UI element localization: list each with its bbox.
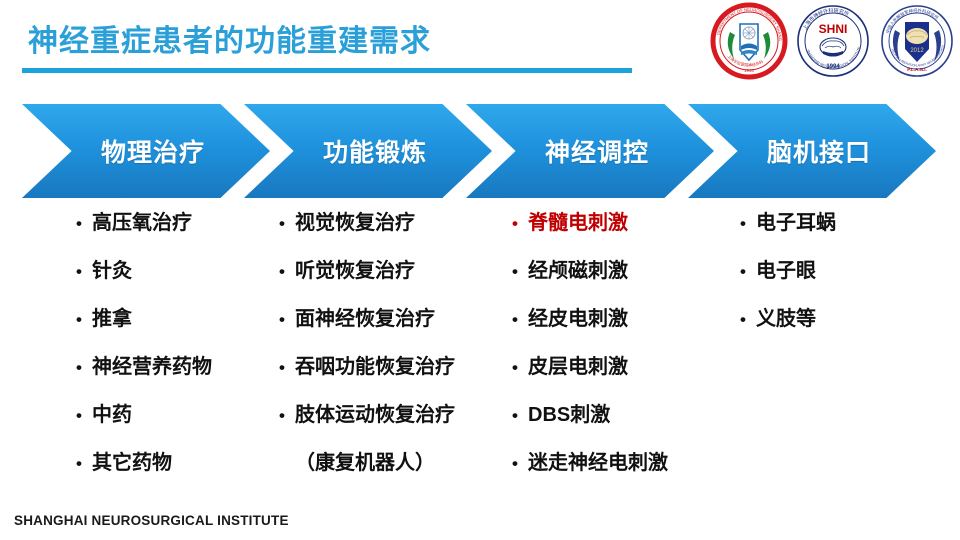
list-item: • 推拿 <box>76 302 212 350</box>
list-item: • 经皮电刺激 <box>512 302 668 350</box>
bullet-icon: • <box>512 455 528 472</box>
bullet-icon: • <box>512 407 528 424</box>
list-item: • 义肢等 <box>740 302 836 350</box>
list-item-label: 吞咽功能恢复治疗 <box>295 350 455 379</box>
list-item-label: 针灸 <box>92 254 132 283</box>
list-item: • （康复机器人） <box>279 446 455 494</box>
list-item-label: 神经营养药物 <box>92 350 212 379</box>
bullet-icon: • <box>740 311 756 328</box>
list-item-label: 皮层电刺激 <box>528 350 628 379</box>
chevron-step-4-label: 脑机接口 <box>767 133 871 169</box>
footer-institute-name: SHANGHAI NEUROSURGICAL INSTITUTE <box>14 513 289 528</box>
logo-group: 1946 DEPARTMENT OF NEUROSURGERY SHANGHAI… <box>710 2 956 80</box>
list-item: • 电子耳蜗 <box>740 206 836 254</box>
list-item: • 中药 <box>76 398 212 446</box>
bullet-icon: • <box>740 263 756 280</box>
bullet-icon: • <box>512 311 528 328</box>
list-item-label: 经皮电刺激 <box>528 302 628 331</box>
list-item-label: 脊髓电刺激 <box>528 206 628 235</box>
list-item: • 迷走神经电刺激 <box>512 446 668 494</box>
list-item-label: 其它药物 <box>92 446 172 475</box>
list-item-label: 义肢等 <box>756 302 816 331</box>
list-item-label: DBS刺激 <box>528 398 610 427</box>
list-item: • 脊髓电刺激 <box>512 206 668 254</box>
physical-therapy-list: • 高压氧治疗 • 针灸 • 推拿 • 神经营养药物 • 中药 • 其它药物 <box>76 206 212 494</box>
bullet-icon: • <box>512 359 528 376</box>
list-item-label: 推拿 <box>92 302 132 331</box>
list-item: • 肢体运动恢复治疗 <box>279 398 455 446</box>
svg-text:SHNI: SHNI <box>819 22 848 36</box>
list-item: • DBS刺激 <box>512 398 668 446</box>
chevron-step-1[interactable]: 物理治疗 <box>22 104 270 198</box>
list-item-label: 面神经恢复治疗 <box>295 302 435 331</box>
list-item: • 吞咽功能恢复治疗 <box>279 350 455 398</box>
list-item-label: 迷走神经电刺激 <box>528 446 668 475</box>
bullet-icon: • <box>512 215 528 232</box>
list-item: • 高压氧治疗 <box>76 206 212 254</box>
bullet-icon: • <box>279 215 295 232</box>
functional-training-list: • 视觉恢复治疗 • 听觉恢复治疗 • 面神经恢复治疗 • 吞咽功能恢复治疗 •… <box>279 206 455 494</box>
bullet-icon: • <box>279 311 295 328</box>
bullet-icon: • <box>279 359 295 376</box>
list-item: • 面神经恢复治疗 <box>279 302 455 350</box>
bullet-icon: • <box>76 263 92 280</box>
chevron-step-1-label: 物理治疗 <box>101 133 205 169</box>
list-item-label: （康复机器人） <box>295 446 435 475</box>
chevron-step-3[interactable]: 神经调控 <box>466 104 714 198</box>
bullet-icon: • <box>76 359 92 376</box>
list-item: • 听觉恢复治疗 <box>279 254 455 302</box>
list-item-label: 电子耳蜗 <box>756 206 836 235</box>
chevron-step-2[interactable]: 功能锻炼 <box>244 104 492 198</box>
content-columns: • 高压氧治疗 • 针灸 • 推拿 • 神经营养药物 • 中药 • 其它药物 <box>0 206 960 506</box>
bullet-icon: • <box>512 263 528 280</box>
list-item-label: 肢体运动恢复治疗 <box>295 398 455 427</box>
list-item: • 电子眼 <box>740 254 836 302</box>
list-item: • 皮层电刺激 <box>512 350 668 398</box>
bullet-icon: • <box>76 407 92 424</box>
bullet-icon: • <box>76 455 92 472</box>
svg-text:2012: 2012 <box>910 48 924 54</box>
shanghai-changzheng-hospital-neurosurgery-logo: 1946 DEPARTMENT OF NEUROSURGERY SHANGHAI… <box>710 2 788 80</box>
list-item: • 针灸 <box>76 254 212 302</box>
chevron-step-3-label: 神经调控 <box>545 133 649 169</box>
bullet-icon: • <box>279 407 295 424</box>
list-item: • 其它药物 <box>76 446 212 494</box>
list-item-label: 经颅磁刺激 <box>528 254 628 283</box>
chevron-step-4[interactable]: 脑机接口 <box>688 104 936 198</box>
shanghai-neurosurgical-institute-logo: SHNI 1994 上海市神经外科研究所 SHANGHAI NEUROSURGI… <box>794 2 872 80</box>
bullet-icon: • <box>740 215 756 232</box>
page-title: 神经重症患者的功能重建需求 <box>28 16 431 60</box>
svg-text:P.L.A.N.I.: P.L.A.N.I. <box>907 67 927 72</box>
list-item-label: 高压氧治疗 <box>92 206 192 235</box>
process-chevron-band: 物理治疗 功能锻炼 神经调控 脑机接口 <box>0 104 960 202</box>
slide-header: 神经重症患者的功能重建需求 1946 DEP <box>0 0 960 92</box>
svg-text:1946: 1946 <box>744 68 754 73</box>
list-item-label: 电子眼 <box>756 254 816 283</box>
bullet-icon: • <box>76 215 92 232</box>
chevron-step-2-label: 功能锻炼 <box>323 133 427 169</box>
brain-computer-interface-list: • 电子耳蜗 • 电子眼 • 义肢等 <box>740 206 836 350</box>
neuromodulation-list: • 脊髓电刺激 • 经颅磁刺激 • 经皮电刺激 • 皮层电刺激 • DBS刺激 … <box>512 206 668 494</box>
pla-neurosurgery-institute-logo: 2012 P.L.A.N.I. 中国人民解放军神经外科研究所 PEOPLE LI… <box>878 2 956 80</box>
list-item-label: 视觉恢复治疗 <box>295 206 415 235</box>
slide-root: 神经重症患者的功能重建需求 1946 DEP <box>0 0 960 540</box>
bullet-icon: • <box>279 263 295 280</box>
title-divider <box>22 68 632 73</box>
bullet-icon: • <box>76 311 92 328</box>
list-item: • 视觉恢复治疗 <box>279 206 455 254</box>
list-item-label: 中药 <box>92 398 132 427</box>
list-item: • 经颅磁刺激 <box>512 254 668 302</box>
list-item: • 神经营养药物 <box>76 350 212 398</box>
list-item-label: 听觉恢复治疗 <box>295 254 415 283</box>
